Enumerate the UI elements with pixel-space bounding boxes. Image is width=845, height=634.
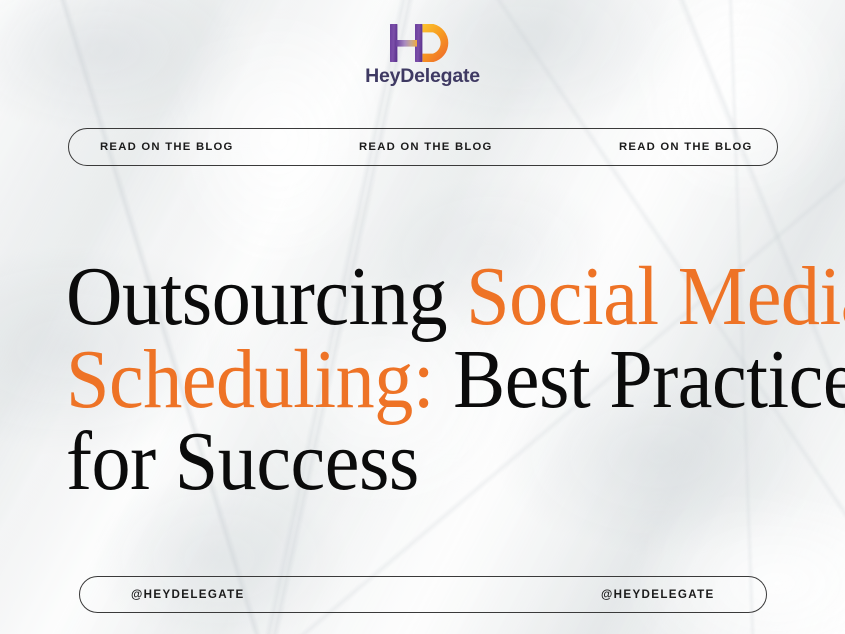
headline-segment: Social Media: [466, 250, 845, 343]
social-handle-label-1[interactable]: @HEYDELEGATE: [131, 588, 245, 601]
blog-promo-graphic: HeyDelegate READ ON THE BLOG READ ON THE…: [0, 0, 845, 634]
headline-segment: Best Practices: [434, 333, 845, 426]
hd-monogram-icon: [386, 22, 460, 64]
brand-logo[interactable]: HeyDelegate: [0, 22, 845, 87]
headline-segment: Scheduling:: [66, 333, 434, 426]
read-on-the-blog-pill[interactable]: READ ON THE BLOG READ ON THE BLOG READ O…: [68, 128, 778, 166]
headline-segment: for Success: [66, 415, 419, 508]
brand-wordmark: HeyDelegate: [0, 67, 845, 87]
headline-segment: Outsourcing: [66, 250, 466, 343]
page-title: Outsourcing Social Media Scheduling: Bes…: [66, 256, 745, 503]
read-on-the-blog-label-3[interactable]: READ ON THE BLOG: [619, 141, 753, 153]
read-on-the-blog-label-1[interactable]: READ ON THE BLOG: [100, 141, 234, 153]
headline-line-2: Scheduling: Best Practices: [66, 339, 745, 421]
headline-line-3: for Success: [66, 421, 745, 503]
social-handle-pill[interactable]: @HEYDELEGATE @HEYDELEGATE: [79, 576, 767, 613]
social-handle-label-2[interactable]: @HEYDELEGATE: [601, 588, 715, 601]
headline-line-1: Outsourcing Social Media: [66, 256, 745, 338]
read-on-the-blog-label-2[interactable]: READ ON THE BLOG: [359, 141, 493, 153]
